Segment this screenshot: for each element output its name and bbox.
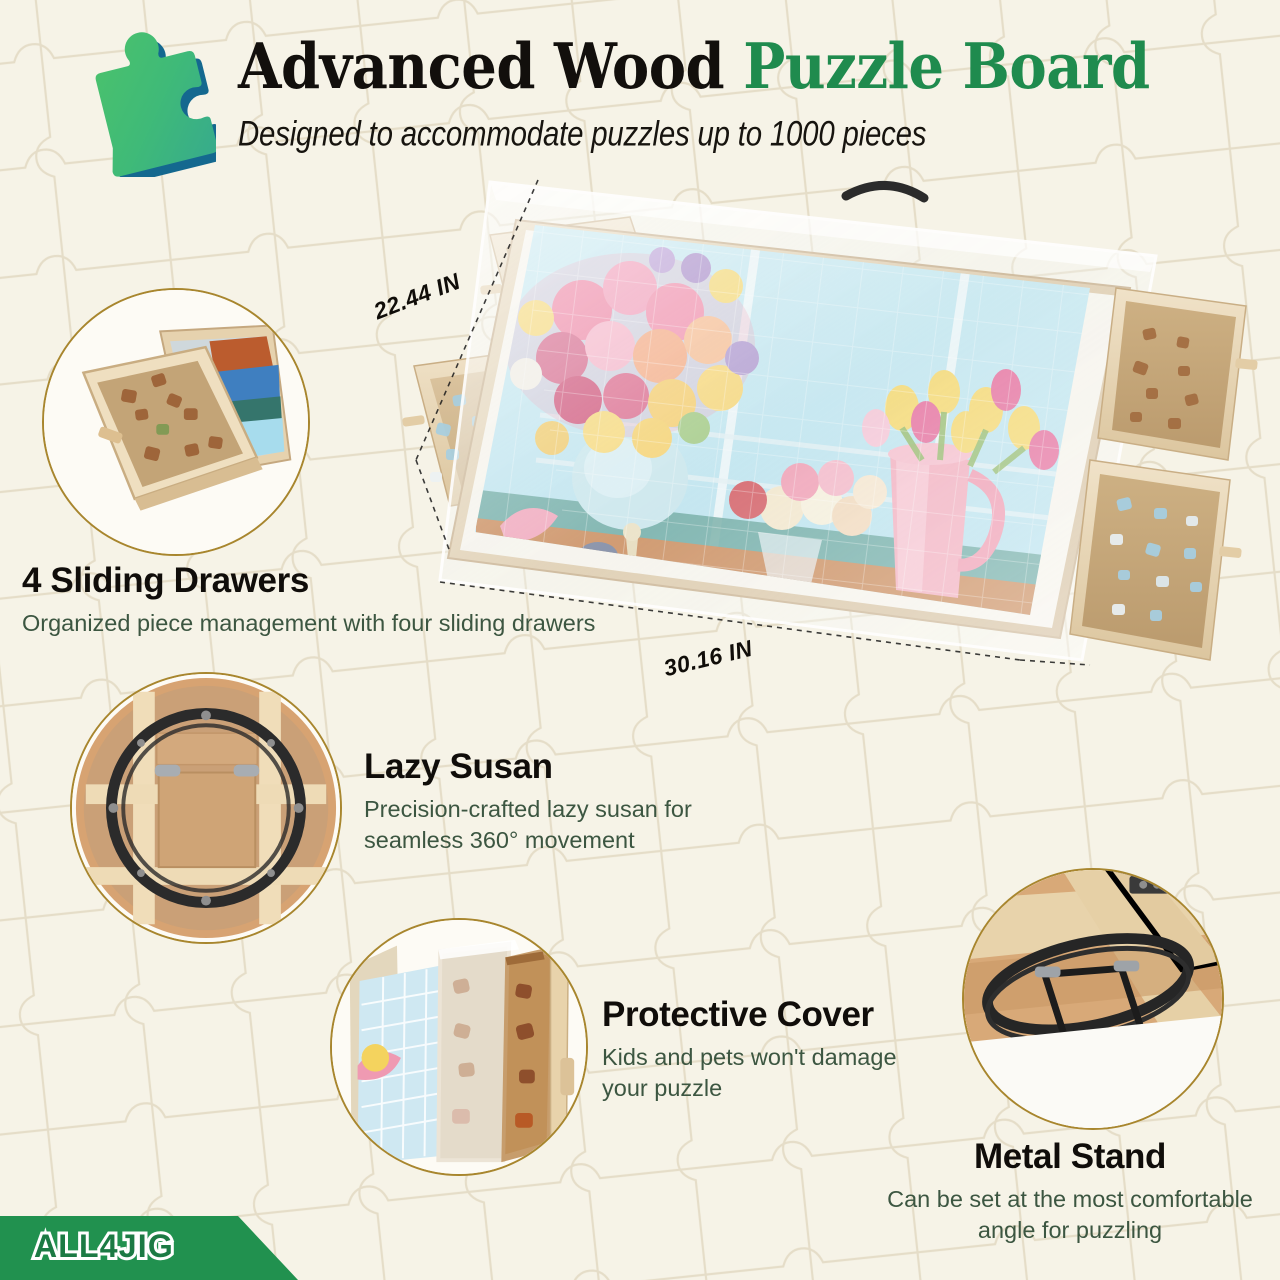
drawer-right-bottom [1070,460,1242,660]
page-title: Advanced Wood Puzzle Board Designed to a… [238,34,1238,149]
product-hero-image [330,160,1280,780]
title-main: Advanced Wood [238,30,743,104]
feature-title: Metal Stand [860,1138,1280,1177]
feature-text-sliding-drawers: 4 Sliding Drawers Organized piece manage… [22,562,662,639]
drawer-right-top [1098,288,1258,460]
feature-title: Lazy Susan [364,748,784,787]
puzzle-piece-icon [66,22,216,177]
feature-title: Protective Cover [602,996,1002,1035]
feature-desc-line2: angle for puzzling [860,1215,1280,1246]
inset-protective-cover [330,918,588,1176]
page-subtitle: Designed to accommodate puzzles up to 10… [238,115,1218,155]
feature-text-metal-stand: Metal Stand Can be set at the most comfo… [860,1138,1280,1246]
feature-desc-line1: Can be set at the most comfortable [860,1184,1280,1215]
feature-title: 4 Sliding Drawers [22,562,662,601]
inset-lazy-susan [70,672,342,944]
feature-desc-line2: seamless 360° movement [364,825,784,856]
feature-desc-line1: Kids and pets won't damage [602,1042,1002,1073]
feature-text-protective-cover: Protective Cover Kids and pets won't dam… [602,996,1002,1104]
brand-banner: ALL4JIG [0,1216,298,1280]
brand-name: ALL4JIG [34,1228,174,1265]
carry-handle [846,185,924,198]
feature-text-lazy-susan: Lazy Susan Precision-crafted lazy susan … [364,748,784,856]
feature-desc: Organized piece management with four sli… [22,608,662,639]
inset-metal-stand [962,868,1224,1130]
header: Advanced Wood Puzzle Board Designed to a… [0,0,1280,175]
feature-desc-line1: Precision-crafted lazy susan for [364,794,784,825]
feature-desc-line2: your puzzle [602,1073,1002,1104]
title-accent: Puzzle Board [743,30,1149,104]
inset-sliding-drawers [42,288,310,556]
